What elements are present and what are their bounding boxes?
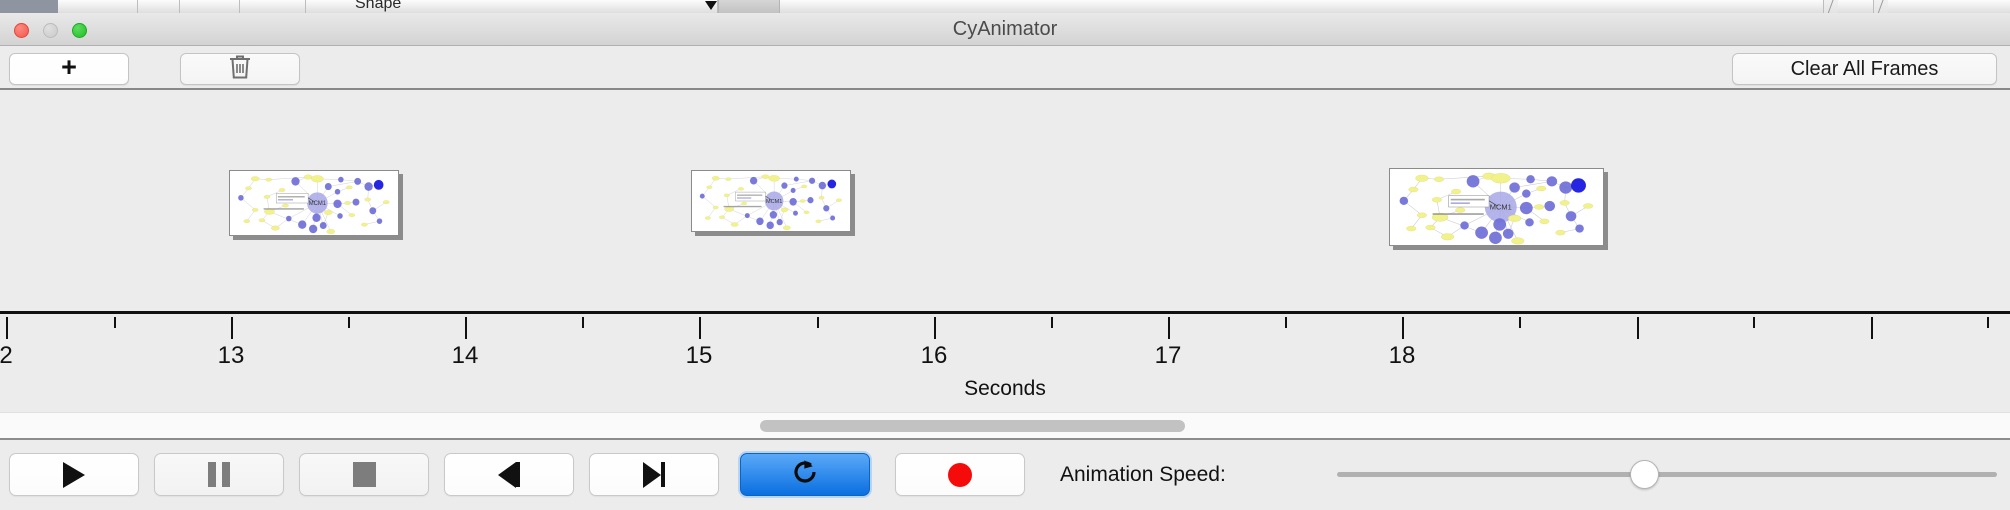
ruler-tick-minor <box>1285 317 1287 328</box>
loop-button[interactable] <box>740 453 870 496</box>
frames-toolbar: + Clear All Frames <box>0 46 2010 90</box>
horizontal-scrollbar-thumb[interactable] <box>760 420 1185 432</box>
background-window-strip: Shape <box>0 0 2010 13</box>
background-divider-icon <box>1824 0 1838 13</box>
ruler-tick-minor <box>114 317 116 328</box>
trash-icon <box>228 53 252 85</box>
background-caret-icon <box>705 1 717 10</box>
background-toolbar-segment <box>58 0 138 13</box>
svg-text:MCM1: MCM1 <box>309 201 327 207</box>
clear-all-frames-label: Clear All Frames <box>1791 58 1939 81</box>
animation-speed-label: Animation Speed: <box>1060 453 1226 496</box>
ruler-tick-minor <box>582 317 584 328</box>
window-title: CyAnimator <box>0 13 2010 46</box>
pause-icon <box>208 462 230 487</box>
background-shape-label: Shape <box>355 0 401 13</box>
skip-to-end-button[interactable] <box>589 453 719 496</box>
ruler-tick-minor <box>1987 317 1989 328</box>
timeline-ruler[interactable]: Seconds 2131415161718 <box>0 317 2010 412</box>
play-button[interactable] <box>9 453 139 496</box>
animation-speed-slider[interactable] <box>1337 453 1997 496</box>
background-toolbar-segment <box>138 0 180 13</box>
ruler-tick-label: 16 <box>921 342 948 370</box>
ruler-tick-label: 14 <box>452 342 479 370</box>
frames-timeline-pane[interactable]: MCM1MCM1MCM1 <box>0 90 2010 314</box>
stop-button[interactable] <box>299 453 429 496</box>
skip-back-icon <box>498 462 520 488</box>
clear-all-frames-button[interactable]: Clear All Frames <box>1732 53 1997 85</box>
record-icon <box>948 463 972 487</box>
stop-icon <box>353 462 376 487</box>
background-toolbar-segment <box>240 0 306 13</box>
ruler-tick-minor <box>1753 317 1755 328</box>
ruler-tick-label: 2 <box>0 342 13 370</box>
frame-thumbnail[interactable]: MCM1 <box>1389 168 1604 246</box>
skip-forward-icon <box>643 462 665 488</box>
horizontal-scrollbar-track[interactable] <box>0 412 2010 438</box>
frame-thumbnail[interactable]: MCM1 <box>691 170 851 232</box>
svg-text:MCM1: MCM1 <box>766 199 782 205</box>
loop-icon <box>790 457 820 492</box>
ruler-tick-major <box>465 317 467 339</box>
ruler-tick-minor <box>1051 317 1053 328</box>
timeline-axis-title: Seconds <box>0 377 2010 401</box>
ruler-tick-major <box>934 317 936 339</box>
ruler-tick-minor <box>1519 317 1521 328</box>
background-toolbar-segment <box>1888 0 2010 13</box>
ruler-tick-label: 13 <box>218 342 245 370</box>
background-active-tab <box>0 0 58 13</box>
pause-button[interactable] <box>154 453 284 496</box>
skip-to-start-button[interactable] <box>444 453 574 496</box>
ruler-tick-major <box>1168 317 1170 339</box>
ruler-tick-label: 17 <box>1155 342 1182 370</box>
record-button[interactable] <box>895 453 1025 496</box>
svg-text:MCM1: MCM1 <box>1490 203 1512 212</box>
background-toolbar-segment <box>1838 0 1874 13</box>
window-titlebar[interactable]: CyAnimator <box>0 13 2010 46</box>
ruler-tick-minor <box>1637 317 1639 328</box>
plus-icon: + <box>61 54 77 81</box>
background-toolbar-segment <box>780 0 1824 13</box>
ruler-tick-major <box>1402 317 1404 339</box>
ruler-tick-minor <box>348 317 350 328</box>
ruler-tick-label: 15 <box>686 342 713 370</box>
ruler-tick-major <box>231 317 233 339</box>
background-toolbar-segment <box>180 0 240 13</box>
playback-controls-bar: Animation Speed: <box>0 438 2010 510</box>
add-frame-button[interactable]: + <box>9 53 129 85</box>
frame-thumbnail[interactable]: MCM1 <box>229 170 399 236</box>
background-divider-icon <box>1874 0 1888 13</box>
delete-frame-button[interactable] <box>180 53 300 85</box>
ruler-tick-minor <box>1871 317 1873 328</box>
background-pressed-control <box>718 0 780 13</box>
ruler-tick-major <box>6 317 8 339</box>
play-icon <box>63 462 85 488</box>
animation-speed-slider-thumb[interactable] <box>1630 460 1659 489</box>
ruler-tick-minor <box>817 317 819 328</box>
ruler-tick-label: 18 <box>1389 342 1416 370</box>
ruler-tick-major <box>699 317 701 339</box>
animation-speed-slider-track <box>1337 472 1997 477</box>
